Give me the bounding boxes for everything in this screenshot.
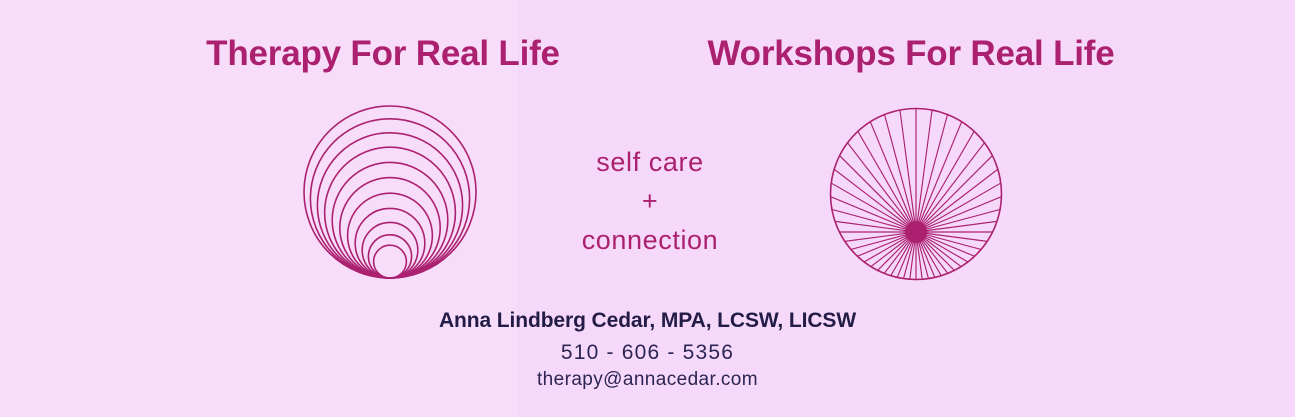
sunburst-core	[905, 221, 927, 243]
sunburst-icon	[826, 104, 1006, 284]
banner-canvas: Therapy For Real Life Workshops For Real…	[0, 0, 1295, 417]
contact-block: Anna Lindberg Cedar, MPA, LCSW, LICSW 51…	[0, 308, 1295, 392]
tagline: self care + connection	[526, 143, 774, 260]
nested-circles-icon	[296, 99, 492, 287]
heading-workshops-for-real-life: Workshops For Real Life	[700, 36, 1122, 71]
phone-number[interactable]: 510 - 606 - 5356	[0, 340, 1295, 365]
tagline-line-2: +	[526, 182, 774, 221]
email-address[interactable]: therapy@annacedar.com	[0, 369, 1295, 392]
tagline-line-3: connection	[526, 221, 774, 260]
tagline-line-1: self care	[526, 143, 774, 182]
practitioner-name: Anna Lindberg Cedar, MPA, LCSW, LICSW	[0, 308, 1295, 333]
sunburst-svg	[826, 104, 1006, 284]
nested-circles-svg	[296, 99, 492, 287]
heading-therapy-for-real-life: Therapy For Real Life	[183, 36, 583, 71]
